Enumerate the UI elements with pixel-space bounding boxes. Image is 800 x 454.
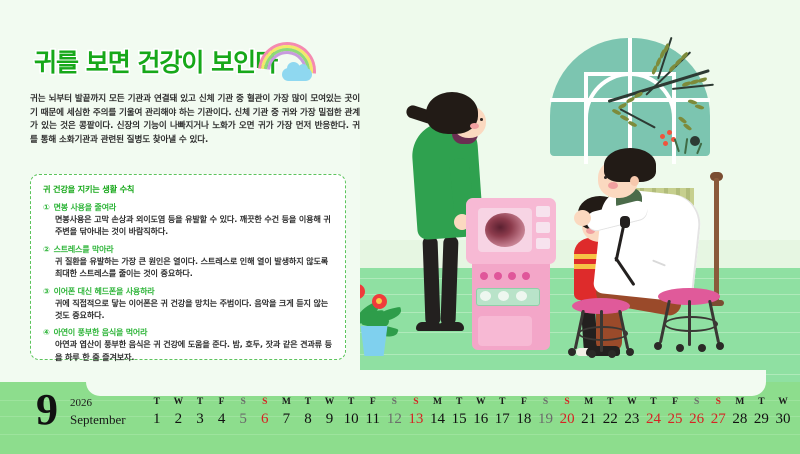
calendar-dow-label: S: [232, 396, 254, 409]
calendar-day-number[interactable]: 26: [686, 409, 708, 429]
calendar-dow-label: F: [211, 396, 233, 409]
title-text: 귀를 보면 건강이 보인다: [34, 48, 277, 77]
calendar-day-column[interactable]: W30: [772, 396, 794, 429]
calendar-dow-label: S: [556, 396, 578, 409]
calendar-day-number[interactable]: 17: [492, 409, 514, 429]
arched-window: [550, 38, 710, 156]
calendar-day-column[interactable]: T8: [297, 396, 319, 429]
clinic-illustration: [360, 0, 800, 394]
doctor-hand: [574, 210, 591, 226]
calendar-day-column[interactable]: T3: [189, 396, 211, 429]
calendar-day-number[interactable]: 11: [362, 409, 384, 429]
calendar-dow-label: W: [168, 396, 190, 409]
calendar-day-number[interactable]: 4: [211, 409, 233, 429]
calendar-day-number[interactable]: 29: [751, 409, 773, 429]
tip-body: 귀에 직접적으로 닿는 이어폰은 귀 건강을 망치는 주범이다. 음악을 크게 …: [55, 297, 335, 322]
eardrum-image: [485, 213, 525, 247]
calendar-dow-label: T: [146, 396, 168, 409]
calendar-month-number: 9: [36, 388, 58, 432]
calendar-dow-label: S: [405, 396, 427, 409]
tip-number: ②: [43, 245, 50, 254]
calendar-day-number[interactable]: 5: [232, 409, 254, 429]
calendar-day-number[interactable]: 8: [297, 409, 319, 429]
doctor-white-coat: [593, 187, 704, 303]
tip-item: ③ 이어폰 대신 헤드폰을 사용하라 귀에 직접적으로 닿는 이어폰은 귀 건강…: [43, 286, 335, 322]
calendar-dow-label: T: [340, 396, 362, 409]
calendar-dow-label: S: [384, 396, 406, 409]
cloud-icon: [282, 68, 312, 81]
calendar-dow-label: M: [729, 396, 751, 409]
calendar-day-number[interactable]: 10: [340, 409, 362, 429]
health-tips-box: 귀 건강을 지키는 생활 수칙 ① 면봉 사용을 줄여라 면봉사용은 고막 손상…: [30, 174, 346, 360]
tip-heading: 스트레스를 막아라: [54, 244, 114, 255]
calendar-dow-label: T: [297, 396, 319, 409]
calendar-day-column[interactable]: T24: [643, 396, 665, 429]
calendar-dow-label: T: [643, 396, 665, 409]
calendar-dow-label: S: [686, 396, 708, 409]
calendar-day-number[interactable]: 9: [319, 409, 341, 429]
calendar-day-number[interactable]: 12: [384, 409, 406, 429]
calendar-day-column[interactable]: M14: [427, 396, 449, 429]
calendar-day-number[interactable]: 24: [643, 409, 665, 429]
tip-item: ④ 아연이 풍부한 음식을 먹어라 아연과 엽산이 풍부한 음식은 귀 건강에 …: [43, 327, 335, 363]
calendar-day-column[interactable]: S27: [707, 396, 729, 429]
calendar-day-column[interactable]: W9: [319, 396, 341, 429]
calendar-day-column[interactable]: W16: [470, 396, 492, 429]
tip-body: 아연과 엽산이 풍부한 음식은 귀 건강에 도움을 준다. 밤, 호두, 잣과 …: [55, 338, 335, 363]
calendar-day-column[interactable]: S13: [405, 396, 427, 429]
tips-box-title: 귀 건강을 지키는 생활 수칙: [43, 183, 335, 195]
calendar-day-number[interactable]: 3: [189, 409, 211, 429]
calendar-dow-label: S: [535, 396, 557, 409]
calendar-day-column[interactable]: S19: [535, 396, 557, 429]
calendar-month-name: September: [70, 412, 126, 428]
calendar-day-column[interactable]: F4: [211, 396, 233, 429]
calendar-day-number[interactable]: 7: [276, 409, 298, 429]
calendar-day-column[interactable]: T22: [599, 396, 621, 429]
tip-number: ④: [43, 328, 50, 337]
calendar-day-grid: T1W2T3F4S5S6M7T8W9T10F11S12S13M14T15W16T…: [146, 396, 794, 429]
calendar-dow-label: W: [319, 396, 341, 409]
calendar-notch: [86, 370, 766, 396]
calendar-day-number[interactable]: 21: [578, 409, 600, 429]
calendar-dow-label: T: [189, 396, 211, 409]
tip-heading: 이어폰 대신 헤드폰을 사용하라: [54, 286, 155, 297]
calendar-day-column[interactable]: F11: [362, 396, 384, 429]
calendar-day-number[interactable]: 1: [146, 409, 168, 429]
tip-body: 귀 질환을 유발하는 가장 큰 원인은 열이다. 스트레스로 인해 열이 발생하…: [55, 255, 335, 280]
calendar-day-column[interactable]: T17: [492, 396, 514, 429]
calendar-day-column[interactable]: W2: [168, 396, 190, 429]
calendar-day-column[interactable]: S26: [686, 396, 708, 429]
calendar-day-number[interactable]: 30: [772, 409, 794, 429]
calendar-day-number[interactable]: 20: [556, 409, 578, 429]
calendar-dow-label: W: [621, 396, 643, 409]
calendar-day-column[interactable]: S6: [254, 396, 276, 429]
iv-pole: [714, 178, 719, 304]
calendar-day-number[interactable]: 6: [254, 409, 276, 429]
tip-item: ① 면봉 사용을 줄여라 면봉사용은 고막 손상과 외이도염 등을 유발할 수 …: [43, 202, 335, 238]
calendar-dow-label: S: [707, 396, 729, 409]
calendar-day-column[interactable]: M28: [729, 396, 751, 429]
tip-item: ② 스트레스를 막아라 귀 질환을 유발하는 가장 큰 원인은 열이다. 스트레…: [43, 244, 335, 280]
calendar-day-number[interactable]: 22: [599, 409, 621, 429]
calendar-day-number[interactable]: 25: [664, 409, 686, 429]
calendar-day-column[interactable]: T29: [751, 396, 773, 429]
calendar-day-column[interactable]: F25: [664, 396, 686, 429]
calendar-dow-label: W: [470, 396, 492, 409]
calendar-day-column[interactable]: W23: [621, 396, 643, 429]
calendar-day-number[interactable]: 18: [513, 409, 535, 429]
calendar-day-number[interactable]: 28: [729, 409, 751, 429]
calendar-dow-label: T: [448, 396, 470, 409]
calendar-dow-label: S: [254, 396, 276, 409]
calendar-day-column[interactable]: M7: [276, 396, 298, 429]
calendar-day-number[interactable]: 23: [621, 409, 643, 429]
calendar-dow-label: F: [362, 396, 384, 409]
calendar-dow-label: M: [427, 396, 449, 409]
calendar-day-number[interactable]: 2: [168, 409, 190, 429]
calendar-day-number[interactable]: 16: [470, 409, 492, 429]
calendar-day-column[interactable]: T10: [340, 396, 362, 429]
calendar-day-column[interactable]: S20: [556, 396, 578, 429]
calendar-day-column[interactable]: T1: [146, 396, 168, 429]
calendar-day-number[interactable]: 19: [535, 409, 557, 429]
intro-paragraph: 귀는 뇌부터 발끝까지 모든 기관과 연결돼 있고 신체 기관 중 혈관이 가장…: [30, 93, 360, 147]
calendar-day-column[interactable]: S12: [384, 396, 406, 429]
calendar-year: 2026: [70, 397, 92, 409]
tip-number: ③: [43, 287, 50, 296]
tip-heading: 아연이 풍부한 음식을 먹어라: [54, 327, 148, 338]
calendar-dow-label: M: [578, 396, 600, 409]
calendar-day-column[interactable]: S5: [232, 396, 254, 429]
calendar-dow-label: M: [276, 396, 298, 409]
calendar-day-column[interactable]: F18: [513, 396, 535, 429]
calendar-day-number[interactable]: 13: [405, 409, 427, 429]
calendar-dow-label: W: [772, 396, 794, 409]
tip-number: ①: [43, 203, 50, 212]
calendar-dow-label: T: [599, 396, 621, 409]
calendar-dow-label: F: [513, 396, 535, 409]
calendar-dow-label: T: [492, 396, 514, 409]
tip-body: 면봉사용은 고막 손상과 외이도염 등을 유발할 수 있다. 깨끗한 수건 등을…: [55, 213, 335, 238]
calendar-day-column[interactable]: T15: [448, 396, 470, 429]
calendar-page: 귀를 보면 건강이 보인다 귀는 뇌부터 발끝까지 모든 기관과 연결돼 있고 …: [0, 0, 800, 454]
calendar-day-number[interactable]: 15: [448, 409, 470, 429]
calendar-day-column[interactable]: M21: [578, 396, 600, 429]
calendar-dow-label: F: [664, 396, 686, 409]
tip-heading: 면봉 사용을 줄여라: [54, 202, 116, 213]
calendar-day-number[interactable]: 14: [427, 409, 449, 429]
calendar-day-number[interactable]: 27: [707, 409, 729, 429]
calendar-dow-label: T: [751, 396, 773, 409]
